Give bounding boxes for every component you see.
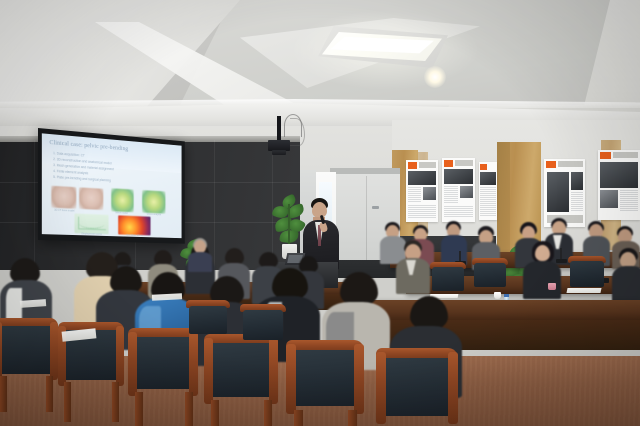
- bottle-cap: [504, 294, 509, 297]
- chair[interactable]: [204, 334, 278, 420]
- thumbnail-caption: Displacement curve: [74, 232, 108, 236]
- chair[interactable]: [186, 300, 230, 340]
- cabinet-seam: [366, 176, 367, 260]
- chair[interactable]: [430, 262, 466, 296]
- chair[interactable]: [568, 256, 606, 292]
- chair[interactable]: [128, 328, 198, 410]
- audience-member: [396, 240, 430, 292]
- slide-thumbnail: [118, 215, 150, 235]
- chair[interactable]: [240, 304, 286, 346]
- audience-member: [612, 248, 640, 302]
- poster-panel: [442, 158, 475, 222]
- thumbnail-caption: 3D CT bone model: [49, 209, 79, 213]
- projection-screen[interactable]: Clinical case: pelvic pre-bending 1. Dat…: [38, 128, 185, 244]
- slide-thumbnail: [79, 187, 103, 210]
- poster-panel: [479, 162, 497, 220]
- panel-seam: [34, 140, 35, 270]
- audience-member: [188, 238, 212, 268]
- cabinet-top-trim: [330, 168, 400, 174]
- cabinet-handle: [372, 206, 379, 209]
- chair[interactable]: [376, 348, 458, 426]
- projector-mount-pole: [277, 116, 281, 142]
- conference-room-photo: Clinical case: pelvic pre-bending 1. Dat…: [0, 0, 640, 426]
- poster-panel: [598, 150, 640, 220]
- pink-mug[interactable]: [548, 283, 556, 290]
- paper-cup[interactable]: [494, 292, 501, 299]
- slide-thumbnail: [74, 214, 108, 235]
- slide-thumbnail: [142, 190, 165, 214]
- slide-bullet: 5. Plate pre-bending and surgical planni…: [53, 175, 145, 185]
- downlight-icon: [424, 66, 446, 88]
- poster-panel: [406, 160, 438, 222]
- projector-lens: [272, 150, 286, 155]
- slide-thumbnail: [111, 188, 133, 212]
- poster-panel: [544, 159, 585, 227]
- chair[interactable]: [472, 258, 508, 292]
- projection-screen-surface: Clinical case: pelvic pre-bending 1. Dat…: [42, 133, 182, 238]
- audience-member: [441, 221, 467, 263]
- chair[interactable]: [0, 318, 58, 392]
- chair[interactable]: [286, 340, 364, 426]
- microphone-base: [556, 259, 567, 263]
- slide-thumbnail: [51, 186, 76, 209]
- thumbnail-caption: Von Mises stress: [118, 233, 150, 237]
